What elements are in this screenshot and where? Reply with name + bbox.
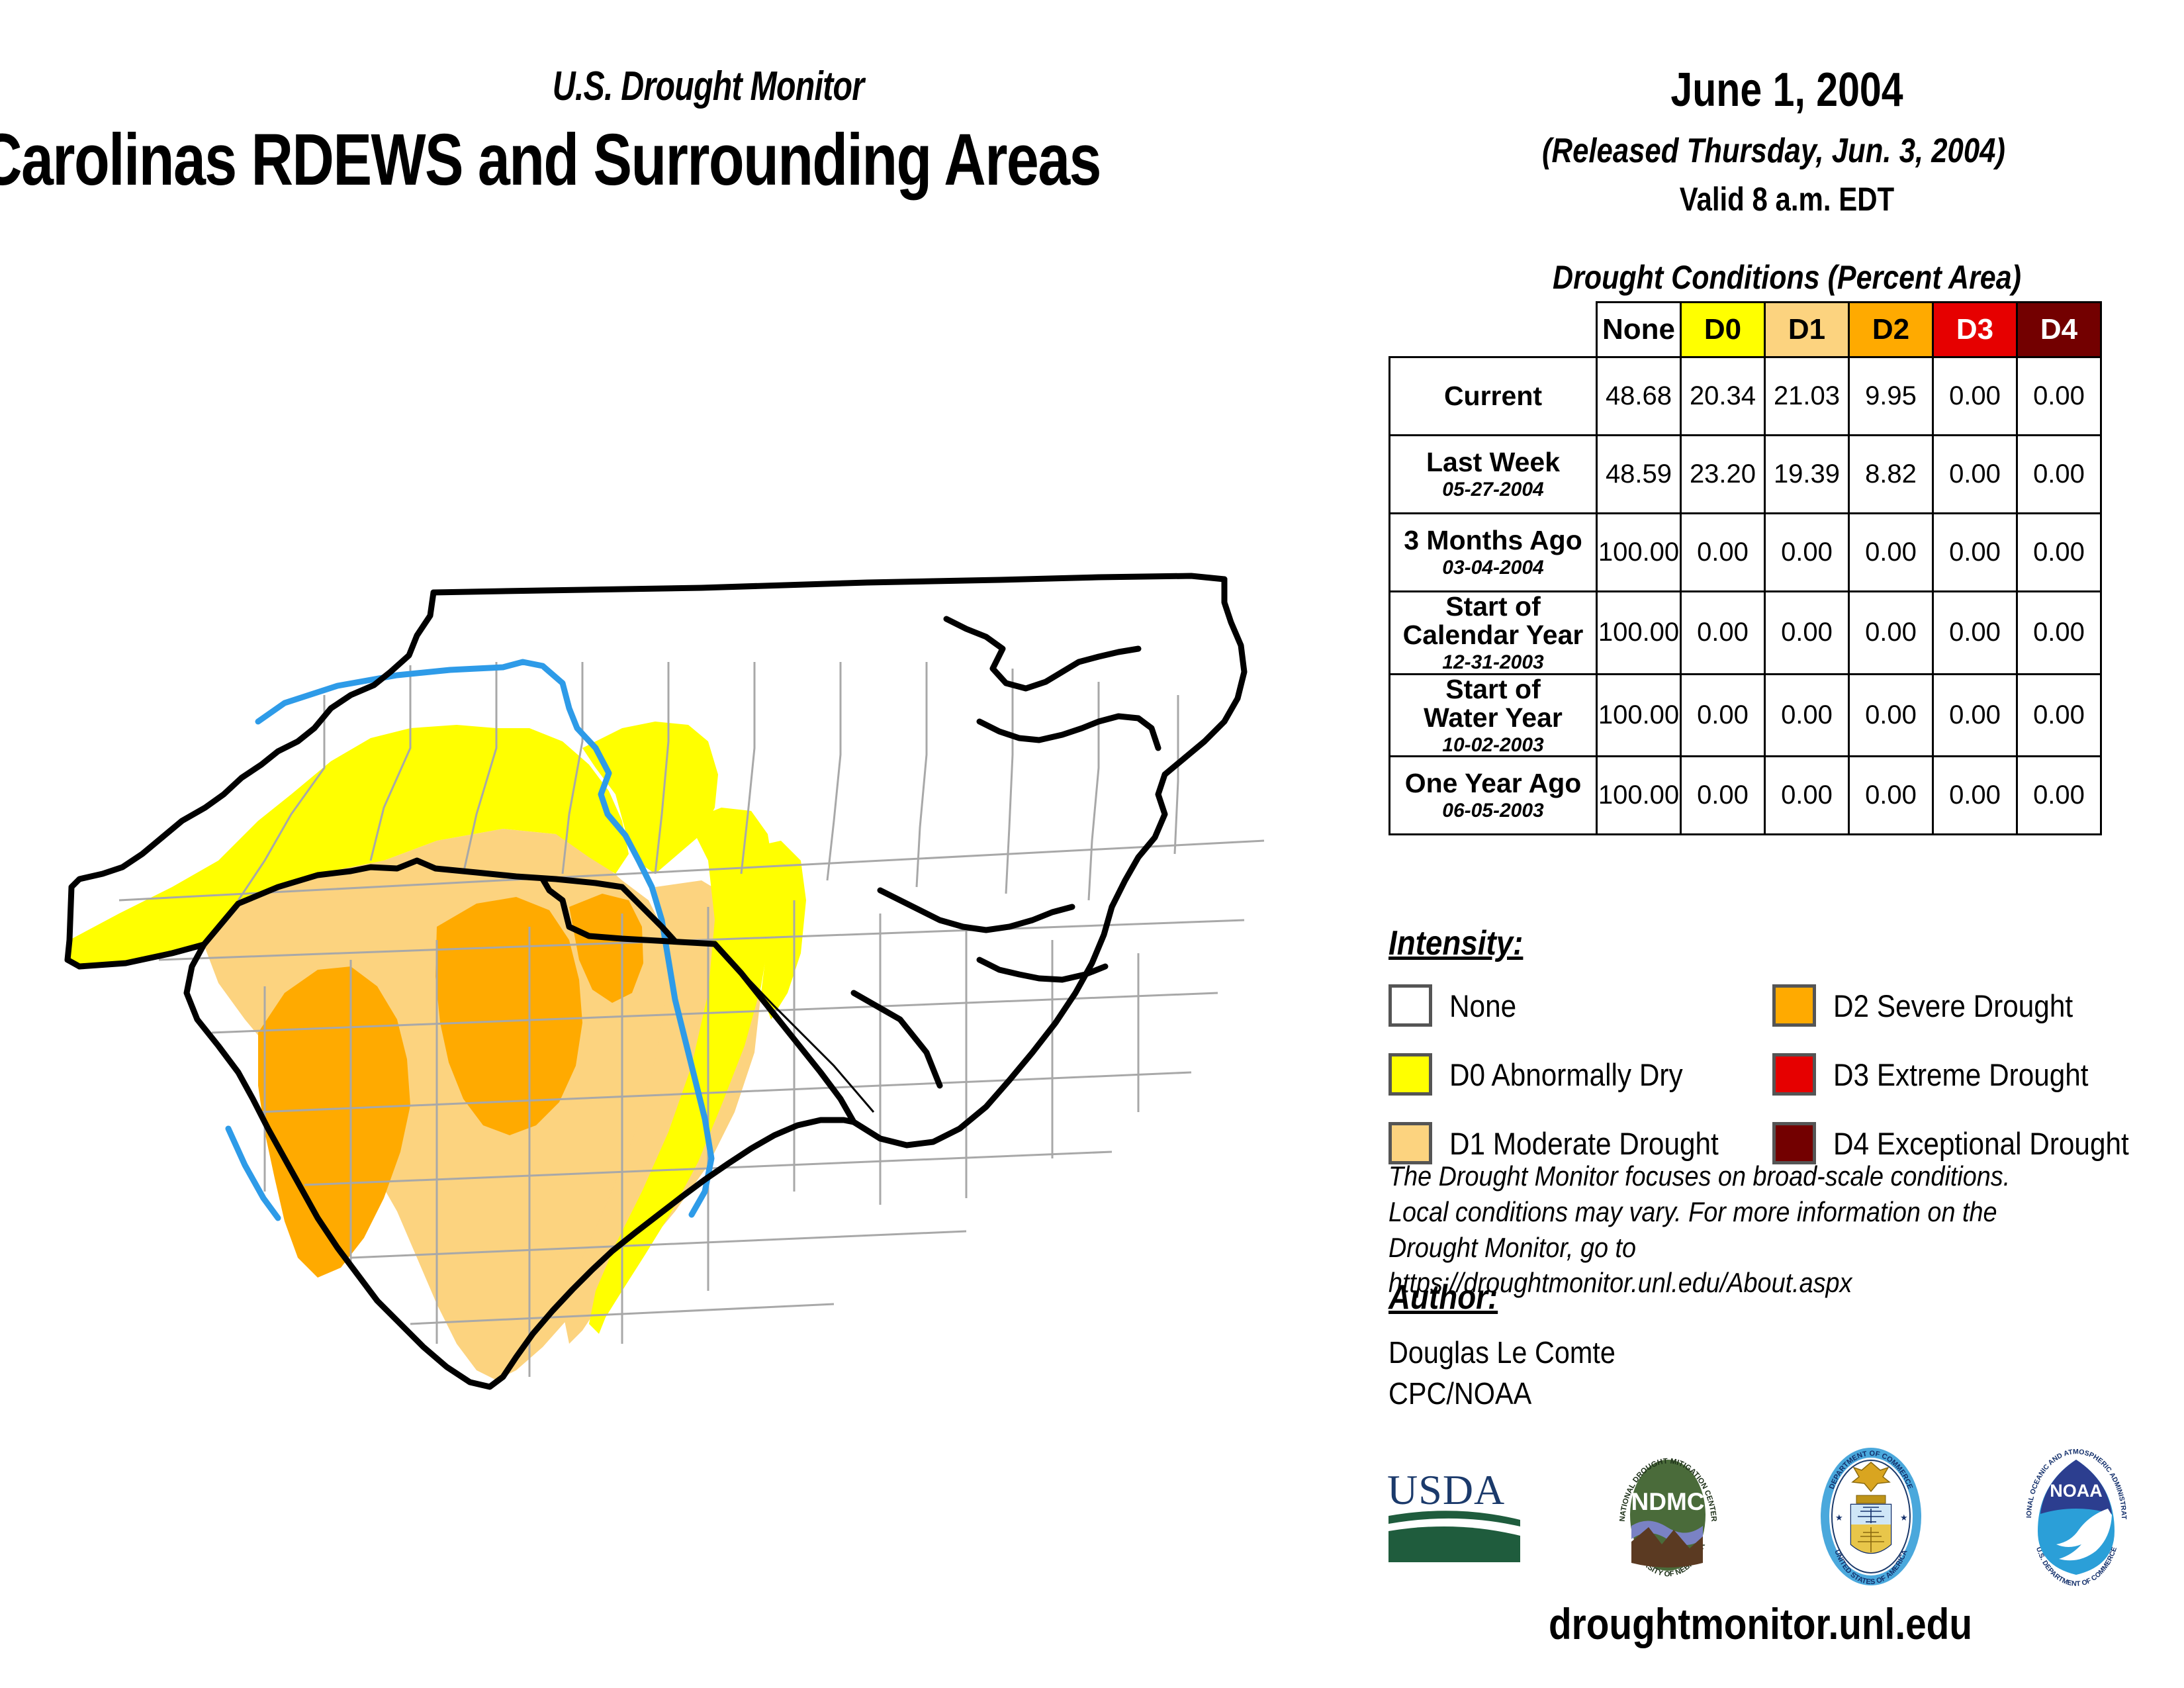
intensity-legend-title: Intensity: bbox=[1388, 923, 1523, 963]
swatch-none bbox=[1388, 984, 1432, 1027]
legend-item-d2: D2 Severe Drought bbox=[1772, 984, 2156, 1027]
table-row: Current 48.68 20.34 21.03 9.95 0.00 0.00 bbox=[1390, 357, 2101, 436]
cell-d2: 0.00 bbox=[1849, 757, 1933, 835]
row-date: 12-31-2003 bbox=[1390, 652, 1596, 673]
cell-d4: 0.00 bbox=[2017, 592, 2101, 675]
doc-seal-logo: DEPARTMENT OF COMMERCE UNITED STATES OF … bbox=[1811, 1445, 1931, 1587]
column-header-d2: D2 bbox=[1849, 303, 1933, 357]
cell-none: 100.00 bbox=[1597, 514, 1681, 592]
cell-d1: 0.00 bbox=[1765, 674, 1849, 757]
cell-d4: 0.00 bbox=[2017, 357, 2101, 436]
cell-d1: 19.39 bbox=[1765, 436, 1849, 514]
cell-d3: 0.00 bbox=[1933, 436, 2017, 514]
cell-d0: 0.00 bbox=[1681, 514, 1765, 592]
cell-d2: 0.00 bbox=[1849, 674, 1933, 757]
cell-d0: 0.00 bbox=[1681, 674, 1765, 757]
legend-row: None D2 Severe Drought bbox=[1388, 980, 2156, 1031]
ndmc-logo: NATIONAL DROUGHT MITIGATION CENTER UNIVE… bbox=[1610, 1445, 1726, 1587]
row-label-one-year-ago: One Year Ago 06-05-2003 bbox=[1390, 757, 1597, 835]
cell-d3: 0.00 bbox=[1933, 357, 2017, 436]
cell-d0: 23.20 bbox=[1681, 436, 1765, 514]
page-title: Carolinas RDEWS and Surrounding Areas bbox=[0, 118, 1410, 202]
legend-label-d4: D4 Exceptional Drought bbox=[1833, 1125, 2129, 1162]
cell-d2: 9.95 bbox=[1849, 357, 1933, 436]
author-name: Douglas Le Comte bbox=[1388, 1332, 1615, 1373]
cell-d1: 21.03 bbox=[1765, 357, 1849, 436]
row-date: 06-05-2003 bbox=[1390, 800, 1596, 821]
cell-d2: 0.00 bbox=[1849, 592, 1933, 675]
cell-none: 100.00 bbox=[1597, 674, 1681, 757]
cell-d2: 8.82 bbox=[1849, 436, 1933, 514]
cell-d4: 0.00 bbox=[2017, 674, 2101, 757]
cell-d3: 0.00 bbox=[1933, 514, 2017, 592]
cell-none: 100.00 bbox=[1597, 592, 1681, 675]
svg-text:★: ★ bbox=[1835, 1513, 1843, 1523]
cell-d1: 0.00 bbox=[1765, 514, 1849, 592]
row-title: Start of Calendar Year bbox=[1403, 591, 1584, 650]
ndmc-logo-text: NDMC bbox=[1631, 1488, 1705, 1515]
drought-conditions-table: None D0 D1 D2 D3 D4 Current 48.68 20.34 … bbox=[1388, 301, 2102, 835]
swatch-d0 bbox=[1388, 1053, 1432, 1096]
legend-label-d2: D2 Severe Drought bbox=[1833, 988, 2073, 1024]
swatch-d2 bbox=[1772, 984, 1816, 1027]
table-row: Start of Calendar Year 12-31-2003 100.00… bbox=[1390, 592, 2101, 675]
row-label-start-of-water-year: Start of Water Year 10-02-2003 bbox=[1390, 674, 1597, 757]
table-row: One Year Ago 06-05-2003 100.00 0.00 0.00… bbox=[1390, 757, 2101, 835]
legend-item-d0: D0 Abnormally Dry bbox=[1388, 1053, 1772, 1096]
row-date: 05-27-2004 bbox=[1390, 479, 1596, 500]
cell-d1: 0.00 bbox=[1765, 592, 1849, 675]
usda-logo: USDA bbox=[1383, 1463, 1525, 1569]
cell-none: 48.68 bbox=[1597, 357, 1681, 436]
disclaimer-line-1: The Drought Monitor focuses on broad-sca… bbox=[1388, 1158, 2091, 1194]
noaa-logo: NATIONAL OCEANIC AND ATMOSPHERIC ADMINIS… bbox=[2015, 1445, 2138, 1587]
row-title: One Year Ago bbox=[1405, 768, 1582, 798]
cell-none: 48.59 bbox=[1597, 436, 1681, 514]
disclaimer-line-2: Local conditions may vary. For more info… bbox=[1388, 1194, 2091, 1230]
legend-label-none: None bbox=[1449, 988, 1516, 1024]
valid-time: Valid 8 a.m. EDT bbox=[1581, 180, 1993, 218]
drought-map[interactable] bbox=[40, 530, 1357, 1390]
cell-d4: 0.00 bbox=[2017, 757, 2101, 835]
legend-row: D0 Abnormally Dry D3 Extreme Drought bbox=[1388, 1049, 2156, 1100]
row-label-3-months-ago: 3 Months Ago 03-04-2004 bbox=[1390, 514, 1597, 592]
row-title: 3 Months Ago bbox=[1404, 525, 1582, 555]
table-corner-cell bbox=[1390, 303, 1597, 357]
table-row: Start of Water Year 10-02-2003 100.00 0.… bbox=[1390, 674, 2101, 757]
cell-d3: 0.00 bbox=[1933, 592, 2017, 675]
author-affiliation: CPC/NOAA bbox=[1388, 1373, 1615, 1414]
row-label-last-week: Last Week 05-27-2004 bbox=[1390, 436, 1597, 514]
cell-d1: 0.00 bbox=[1765, 757, 1849, 835]
usda-logo-text: USDA bbox=[1387, 1466, 1505, 1513]
swatch-d3 bbox=[1772, 1053, 1816, 1096]
row-label-start-of-calendar-year: Start of Calendar Year 12-31-2003 bbox=[1390, 592, 1597, 675]
column-header-none: None bbox=[1597, 303, 1681, 357]
row-date: 10-02-2003 bbox=[1390, 735, 1596, 756]
cell-d0: 20.34 bbox=[1681, 357, 1765, 436]
cell-d4: 0.00 bbox=[2017, 436, 2101, 514]
intensity-legend: None D2 Severe Drought D0 Abnormally Dry… bbox=[1388, 980, 2156, 1186]
row-title: Current bbox=[1444, 381, 1542, 411]
column-header-d1: D1 bbox=[1765, 303, 1849, 357]
cell-d2: 0.00 bbox=[1849, 514, 1933, 592]
legend-item-none: None bbox=[1388, 984, 1772, 1027]
legend-label-d0: D0 Abnormally Dry bbox=[1449, 1056, 1683, 1093]
table-row: Last Week 05-27-2004 48.59 23.20 19.39 8… bbox=[1390, 436, 2101, 514]
program-title: U.S. Drought Monitor bbox=[476, 63, 940, 110]
noaa-logo-text: NOAA bbox=[2050, 1481, 2103, 1501]
row-date: 03-04-2004 bbox=[1390, 557, 1596, 579]
legend-item-d3: D3 Extreme Drought bbox=[1772, 1053, 2156, 1096]
cell-d3: 0.00 bbox=[1933, 757, 2017, 835]
legend-label-d3: D3 Extreme Drought bbox=[1833, 1056, 2089, 1093]
legend-label-d1: D1 Moderate Drought bbox=[1449, 1125, 1719, 1162]
author-heading: Author: bbox=[1388, 1278, 1498, 1317]
column-header-d4: D4 bbox=[2017, 303, 2101, 357]
cell-d0: 0.00 bbox=[1681, 757, 1765, 835]
d2-severe-area-west bbox=[258, 966, 410, 1278]
website-url: droughtmonitor.unl.edu bbox=[1436, 1599, 2085, 1649]
table-row: 3 Months Ago 03-04-2004 100.00 0.00 0.00… bbox=[1390, 514, 2101, 592]
release-date: (Released Thursday, Jun. 3, 2004) bbox=[1496, 131, 2052, 171]
row-label-current: Current bbox=[1390, 357, 1597, 436]
column-header-d0: D0 bbox=[1681, 303, 1765, 357]
author-block: Douglas Le Comte CPC/NOAA bbox=[1388, 1332, 1615, 1414]
row-title: Last Week bbox=[1426, 447, 1560, 477]
table-caption: Drought Conditions (Percent Area) bbox=[1480, 258, 2095, 297]
cell-none: 100.00 bbox=[1597, 757, 1681, 835]
cell-d0: 0.00 bbox=[1681, 592, 1765, 675]
cell-d4: 0.00 bbox=[2017, 514, 2101, 592]
valid-date: June 1, 2004 bbox=[1586, 63, 1988, 117]
column-header-d3: D3 bbox=[1933, 303, 2017, 357]
svg-text:★: ★ bbox=[1900, 1513, 1908, 1523]
row-title: Start of Water Year bbox=[1424, 674, 1563, 733]
cell-d3: 0.00 bbox=[1933, 674, 2017, 757]
logo-row: USDA NATIONAL DROUGHT MITIGATION CENTER … bbox=[1383, 1440, 2138, 1592]
table-header-row: None D0 D1 D2 D3 D4 bbox=[1390, 303, 2101, 357]
